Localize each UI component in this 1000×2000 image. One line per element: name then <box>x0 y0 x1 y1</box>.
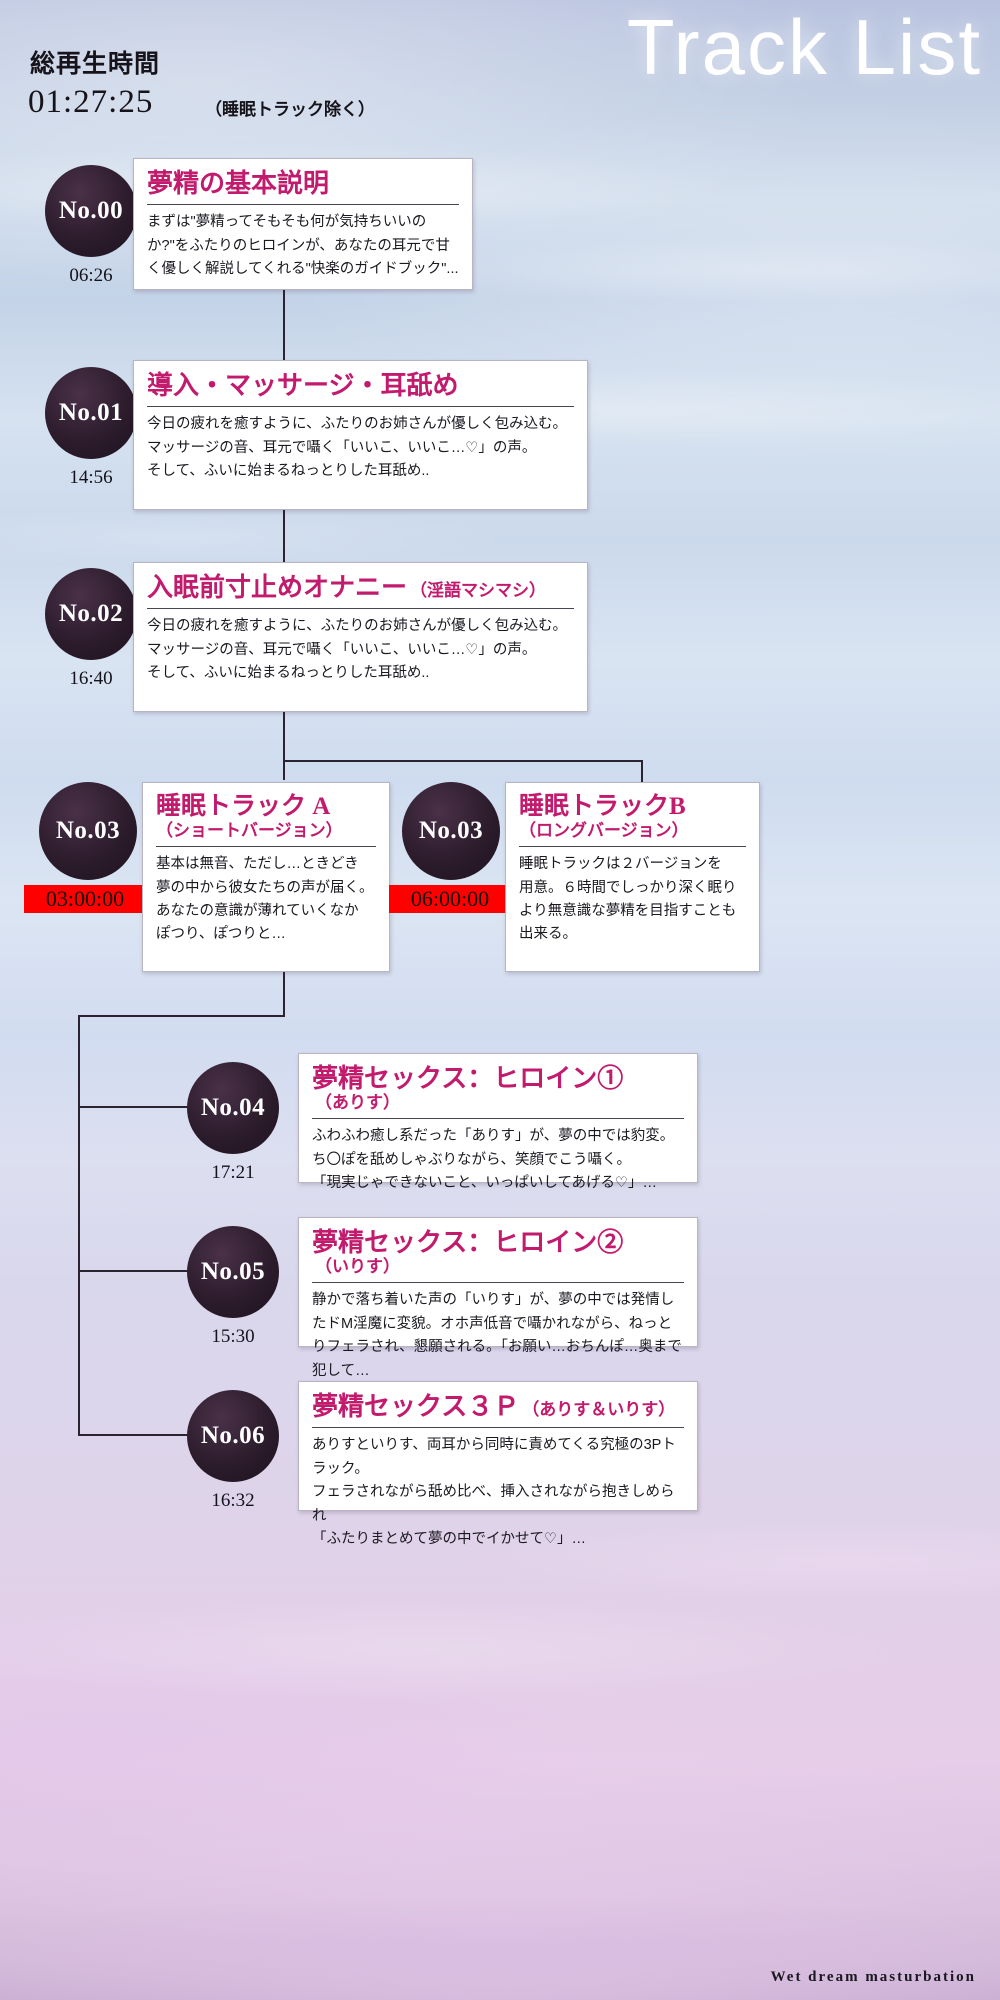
track-description-06: ありすといりす、両耳から同時に責めてくる究極の3Pトラック。 フェラされながら舐… <box>312 1434 684 1551</box>
track-card-04: 夢精セックス：ヒロイン① （ありす） ふわふわ癒し系だった「ありす」が、夢の中で… <box>298 1053 698 1183</box>
track-number-label: No.06 <box>201 1422 265 1450</box>
track-number-badge-06: No.06 <box>187 1390 279 1482</box>
connector-line-sleep-down <box>283 972 285 1017</box>
track-title-02: 入眠前寸止めオナニー （淫語マシマシ） <box>147 573 574 609</box>
track-title-sub: （ロングバージョン） <box>519 821 746 840</box>
track-duration-01: 14:56 <box>45 467 137 489</box>
track-card-01: 導入・マッサージ・耳舐め 今日の疲れを癒すように、ふたりのお姉さんが優しく包み込… <box>133 360 588 510</box>
track-title-main: 睡眠トラック A <box>156 793 330 821</box>
footer-caption: Wet dream masturbation <box>771 1969 976 1986</box>
connector-line-bus-vertical <box>78 1015 80 1435</box>
track-duration-00: 06:26 <box>45 265 137 287</box>
track-card-03a: 睡眠トラック A （ショートバージョン） 基本は無音、ただし…ときどき 夢の中か… <box>142 782 390 972</box>
track-number-label: No.03 <box>419 817 483 845</box>
total-playtime-label: 総再生時間 <box>30 44 160 80</box>
track-description-05: 静かで落ち着いた声の「いりす」が、夢の中では発情したドM淫魔に変貌。オホ声低音で… <box>312 1289 684 1383</box>
track-number-label: No.00 <box>59 197 123 225</box>
track-number-badge-02: No.02 <box>45 568 137 660</box>
connector-line-spine-low <box>283 712 285 780</box>
track-description-02: 今日の疲れを癒すように、ふたりのお姉さんが優しく包み込む。 マッサージの音、耳元… <box>147 615 574 685</box>
track-duration-04: 17:21 <box>187 1162 279 1184</box>
track-title-main: 夢精の基本説明 <box>147 169 329 198</box>
track-description-01: 今日の疲れを癒すように、ふたりのお姉さんが優しく包み込む。 マッサージの音、耳元… <box>147 413 574 483</box>
track-number-label: No.02 <box>59 600 123 628</box>
connector-line-split-horizontal <box>283 760 643 762</box>
track-title-main: 導入・マッサージ・耳舐め <box>147 371 458 400</box>
track-card-02: 入眠前寸止めオナニー （淫語マシマシ） 今日の疲れを癒すように、ふたりのお姉さん… <box>133 562 588 712</box>
track-duration-06: 16:32 <box>187 1490 279 1512</box>
connector-line-spine-top <box>283 290 285 360</box>
track-title-03b: 睡眠トラックB （ロングバージョン） <box>519 793 746 847</box>
track-title-00: 夢精の基本説明 <box>147 169 459 205</box>
track-number-label: No.04 <box>201 1094 265 1122</box>
track-number-badge-04: No.04 <box>187 1062 279 1154</box>
connector-line-branch-04 <box>78 1106 188 1108</box>
track-title-01: 導入・マッサージ・耳舐め <box>147 371 574 407</box>
track-title-sub: （ありす＆いりす） <box>522 1400 675 1419</box>
connector-line-branch-05 <box>78 1270 188 1272</box>
track-duration-03a: 03:00:00 <box>24 885 146 913</box>
track-description-03a: 基本は無音、ただし…ときどき 夢の中から彼女たちの声が届く。 あなたの意識が薄れ… <box>156 853 376 947</box>
track-card-00: 夢精の基本説明 まずは"夢精ってそもそも何が気持ちいいのか?"をふたりのヒロイン… <box>133 158 473 290</box>
track-title-sub: （いりす） <box>315 1257 400 1276</box>
track-title-main: 夢精セックス３Ｐ <box>312 1392 519 1421</box>
page-title: Track List <box>627 8 982 86</box>
track-number-label: No.03 <box>56 817 120 845</box>
track-title-main: 睡眠トラックB <box>519 793 686 821</box>
total-playtime-value: 01:27:25 <box>28 84 153 121</box>
track-number-badge-03b: No.03 <box>402 782 500 880</box>
track-title-sub: （ショートバージョン） <box>156 821 376 840</box>
total-playtime-note: （睡眠トラック除く） <box>205 95 375 120</box>
track-title-03a: 睡眠トラック A （ショートバージョン） <box>156 793 376 847</box>
track-title-main: 夢精セックス：ヒロイン① <box>312 1064 623 1093</box>
track-title-main: 入眠前寸止めオナニー <box>147 573 407 602</box>
track-number-badge-01: No.01 <box>45 367 137 459</box>
track-description-04: ふわふわ癒し系だった「ありす」が、夢の中では豹変。 ち〇ぽを舐めしゃぶりながら、… <box>312 1125 684 1195</box>
track-card-05: 夢精セックス：ヒロイン② （いりす） 静かで落ち着いた声の「いりす」が、夢の中で… <box>298 1217 698 1347</box>
track-title-04: 夢精セックス：ヒロイン① （ありす） <box>312 1064 684 1119</box>
connector-line-to-track03b <box>641 760 643 782</box>
track-number-badge-05: No.05 <box>187 1226 279 1318</box>
track-duration-02: 16:40 <box>45 668 137 690</box>
connector-line-spine-mid <box>283 510 285 562</box>
track-description-00: まずは"夢精ってそもそも何が気持ちいいのか?"をふたりのヒロインが、あなたの耳元… <box>147 211 459 281</box>
track-number-badge-03a: No.03 <box>39 782 137 880</box>
track-title-06: 夢精セックス３Ｐ （ありす＆いりす） <box>312 1392 684 1428</box>
track-duration-03b: 06:00:00 <box>389 885 511 913</box>
track-duration-05: 15:30 <box>187 1326 279 1348</box>
track-title-sub: （淫語マシマシ） <box>410 581 546 600</box>
track-title-sub: （ありす） <box>315 1093 400 1112</box>
track-card-06: 夢精セックス３Ｐ （ありす＆いりす） ありすといりす、両耳から同時に責めてくる究… <box>298 1381 698 1511</box>
track-title-05: 夢精セックス：ヒロイン② （いりす） <box>312 1228 684 1283</box>
track-description-03b: 睡眠トラックは２バージョンを 用意。６時間でしっかり深く眠り より無意識な夢精を… <box>519 853 746 947</box>
track-number-badge-00: No.00 <box>45 165 137 257</box>
connector-line-bus-horizontal <box>78 1015 285 1017</box>
track-number-label: No.05 <box>201 1258 265 1286</box>
connector-line-branch-06 <box>78 1434 188 1436</box>
track-number-label: No.01 <box>59 399 123 427</box>
track-card-03b: 睡眠トラックB （ロングバージョン） 睡眠トラックは２バージョンを 用意。６時間… <box>505 782 760 972</box>
track-title-main: 夢精セックス：ヒロイン② <box>312 1228 623 1257</box>
